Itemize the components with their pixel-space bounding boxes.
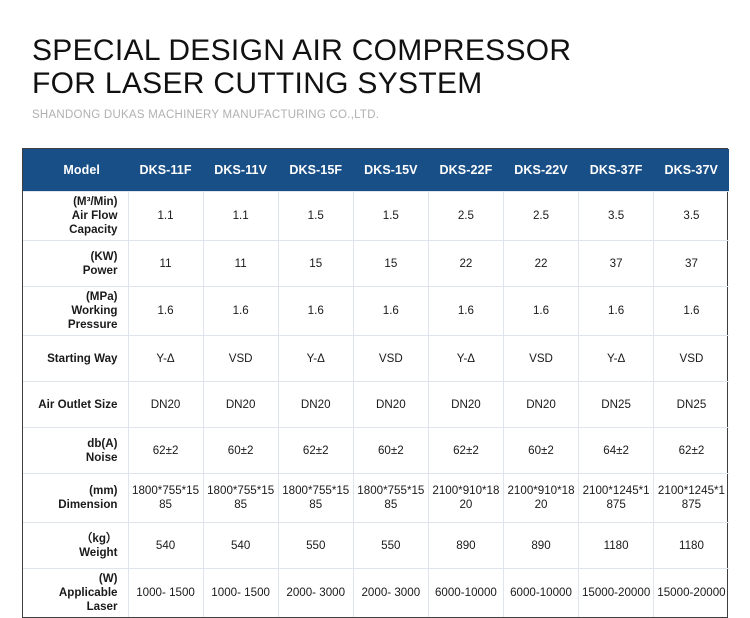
column-header-dks-15v: DKS-15V [353,149,428,192]
header-block: SPECIAL DESIGN AIR COMPRESSOR FOR LASER … [32,34,722,121]
table-row-applicable-laser: (W) Applicable Laser 1000- 1500 1000- 15… [23,569,729,618]
table-cell: 60±2 [203,428,278,474]
table-cell: VSD [654,336,729,382]
table-cell: 64±2 [579,428,654,474]
table-cell: 1.1 [128,192,203,241]
table-cell: 1800*755*1585 [353,474,428,523]
table-cell: 1.6 [503,287,578,336]
table-cell: DN20 [353,382,428,428]
table-cell: DN25 [654,382,729,428]
row-label-name: Weight [25,546,118,560]
table-cell: 22 [503,241,578,287]
table-cell: 22 [428,241,503,287]
table-cell: 11 [203,241,278,287]
table-cell: 1180 [654,523,729,569]
company-subtitle: SHANDONG DUKAS MACHINERY MANUFACTURING C… [32,109,722,121]
table-cell: 540 [128,523,203,569]
table-cell: 1.1 [203,192,278,241]
row-label-unit: (mm) [25,484,118,498]
table-cell: 15 [278,241,353,287]
table-cell: DN20 [503,382,578,428]
table-cell: 6000-10000 [428,569,503,618]
table-cell: 1.6 [128,287,203,336]
table-cell: 1800*755*1585 [278,474,353,523]
column-header-dks-37f: DKS-37F [579,149,654,192]
table-cell: DN20 [428,382,503,428]
row-label-unit: (M³/Min) [25,195,118,209]
table-cell: 540 [203,523,278,569]
row-label-name: Applicable Laser [25,586,118,614]
row-label-name: Starting Way [25,352,118,366]
table-cell: 60±2 [503,428,578,474]
table-cell: 2.5 [503,192,578,241]
table-cell: 2100*910*1820 [428,474,503,523]
row-label-applicable-laser: (W) Applicable Laser [23,569,128,618]
table-cell: 550 [353,523,428,569]
row-label-name: Air Outlet Size [25,398,118,412]
table-cell: VSD [353,336,428,382]
table-header-row: Model DKS-11F DKS-11V DKS-15F DKS-15V DK… [23,149,729,192]
row-label-unit: （kg） [25,532,118,546]
table-cell: 60±2 [353,428,428,474]
table-body: (M³/Min) Air Flow Capacity 1.1 1.1 1.5 1… [23,192,729,618]
row-label-working-pressure: (MPa) Working Pressure [23,287,128,336]
table-row-power: (KW) Power 11 11 15 15 22 22 37 37 [23,241,729,287]
table-cell: 1.5 [353,192,428,241]
table-cell: 1.6 [353,287,428,336]
table-cell: DN25 [579,382,654,428]
table-cell: 62±2 [128,428,203,474]
row-label-air-flow-capacity: (M³/Min) Air Flow Capacity [23,192,128,241]
table-row-starting-way: Starting Way Y-Δ VSD Y-Δ VSD Y-Δ VSD Y-Δ… [23,336,729,382]
table-cell: Y-Δ [428,336,503,382]
specification-table: Model DKS-11F DKS-11V DKS-15F DKS-15V DK… [23,149,729,617]
table-cell: 62±2 [278,428,353,474]
table-cell: Y-Δ [128,336,203,382]
table-cell: 3.5 [654,192,729,241]
table-cell: 62±2 [654,428,729,474]
row-label-name: Air Flow Capacity [25,209,118,237]
row-label-name: Dimension [25,498,118,512]
table-cell: 890 [428,523,503,569]
table-header: Model DKS-11F DKS-11V DKS-15F DKS-15V DK… [23,149,729,192]
table-cell: 1000- 1500 [128,569,203,618]
specification-table-wrapper: Model DKS-11F DKS-11V DKS-15F DKS-15V DK… [22,148,728,618]
table-row-air-flow-capacity: (M³/Min) Air Flow Capacity 1.1 1.1 1.5 1… [23,192,729,241]
table-cell: 2100*1245*1875 [654,474,729,523]
table-row-dimension: (mm) Dimension 1800*755*1585 1800*755*15… [23,474,729,523]
table-cell: 1.6 [278,287,353,336]
table-cell: 11 [128,241,203,287]
row-label-unit: (MPa) [25,290,118,304]
table-cell: 2100*910*1820 [503,474,578,523]
row-label-unit: (KW) [25,250,118,264]
table-cell: 1.6 [203,287,278,336]
table-cell: 62±2 [428,428,503,474]
column-header-dks-11f: DKS-11F [128,149,203,192]
column-header-dks-22f: DKS-22F [428,149,503,192]
table-cell: 1.6 [654,287,729,336]
table-cell: 1180 [579,523,654,569]
row-label-starting-way: Starting Way [23,336,128,382]
table-cell: 890 [503,523,578,569]
table-cell: Y-Δ [579,336,654,382]
table-cell: DN20 [128,382,203,428]
table-row-air-outlet-size: Air Outlet Size DN20 DN20 DN20 DN20 DN20… [23,382,729,428]
table-cell: 2000- 3000 [278,569,353,618]
column-header-model: Model [23,149,128,192]
table-cell: 1800*755*1585 [128,474,203,523]
table-cell: 550 [278,523,353,569]
table-row-working-pressure: (MPa) Working Pressure 1.6 1.6 1.6 1.6 1… [23,287,729,336]
table-row-noise: db(A) Noise 62±2 60±2 62±2 60±2 62±2 60±… [23,428,729,474]
table-cell: 37 [654,241,729,287]
table-cell: VSD [203,336,278,382]
row-label-dimension: (mm) Dimension [23,474,128,523]
column-header-dks-11v: DKS-11V [203,149,278,192]
table-cell: 2100*1245*1875 [579,474,654,523]
table-cell: 2000- 3000 [353,569,428,618]
row-label-air-outlet-size: Air Outlet Size [23,382,128,428]
table-cell: 15000-20000 [579,569,654,618]
column-header-dks-15f: DKS-15F [278,149,353,192]
table-cell: 1800*755*1585 [203,474,278,523]
table-cell: DN20 [203,382,278,428]
table-cell: 1.5 [278,192,353,241]
table-cell: 1000- 1500 [203,569,278,618]
table-cell: 15000-20000 [654,569,729,618]
page-title: SPECIAL DESIGN AIR COMPRESSOR FOR LASER … [32,34,722,100]
row-label-weight: （kg） Weight [23,523,128,569]
row-label-power: (KW) Power [23,241,128,287]
row-label-unit: (W) [25,572,118,586]
table-cell: 37 [579,241,654,287]
table-cell: Y-Δ [278,336,353,382]
row-label-name: Power [25,264,118,278]
row-label-unit: db(A) [25,437,118,451]
table-cell: VSD [503,336,578,382]
column-header-dks-22v: DKS-22V [503,149,578,192]
table-cell: 1.6 [428,287,503,336]
table-cell: 1.6 [579,287,654,336]
row-label-name: Working Pressure [25,304,118,332]
table-cell: 15 [353,241,428,287]
row-label-noise: db(A) Noise [23,428,128,474]
column-header-dks-37v: DKS-37V [654,149,729,192]
table-cell: DN20 [278,382,353,428]
table-row-weight: （kg） Weight 540 540 550 550 890 890 1180… [23,523,729,569]
table-cell: 3.5 [579,192,654,241]
table-cell: 2.5 [428,192,503,241]
table-cell: 6000-10000 [503,569,578,618]
spec-sheet-page: SPECIAL DESIGN AIR COMPRESSOR FOR LASER … [0,0,750,587]
row-label-name: Noise [25,451,118,465]
